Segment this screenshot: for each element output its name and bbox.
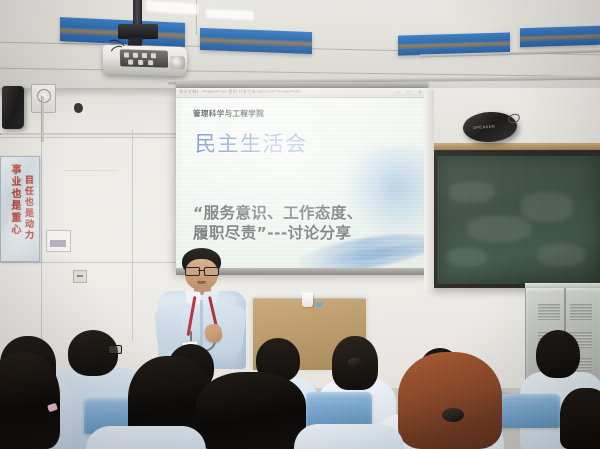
glasses-icon	[108, 345, 122, 354]
slide-canvas: 管理科学与工程学院 民主生活会 “服务意识、工作态度、 履职尽责”---讨论分享	[181, 98, 423, 268]
slide-header-text: 管理科学与工程学院	[193, 108, 264, 119]
list-item	[86, 426, 206, 449]
list-item	[536, 330, 580, 378]
list-item	[0, 352, 60, 449]
list-item	[196, 372, 306, 449]
window-controls[interactable]: — □ ✕	[395, 90, 425, 96]
slide-title-text: 民主生活会	[195, 128, 308, 158]
projection-screen: 演示文稿1 - PowerPoint 视图 开发工具 Microsoft Pow…	[176, 88, 428, 271]
wall-panel-line	[41, 130, 42, 340]
poster-glare	[1, 157, 39, 261]
wall-panel-line	[63, 170, 118, 171]
slide-subtitle: “服务意识、工作态度、 履职尽责”---讨论分享	[193, 204, 423, 244]
chair-back	[500, 394, 560, 428]
wall-conduit	[0, 133, 177, 135]
clock-icon	[37, 89, 51, 103]
classroom-photo: 事业也是重心 目任也是动力 演示文稿1 - PowerPoint 视图 开发工具…	[0, 0, 600, 449]
wall-conduit	[41, 96, 44, 142]
wall-panel-line	[0, 137, 176, 138]
powerpoint-titlebar: 演示文稿1 - PowerPoint 视图 开发工具 Microsoft Pow…	[176, 88, 428, 98]
calligraphy-poster: 事业也是重心 目任也是动力	[0, 156, 40, 262]
board-side-wall	[424, 90, 434, 290]
paper-cup	[302, 293, 313, 307]
hair-tie	[348, 358, 361, 366]
hair-tie	[442, 408, 464, 422]
wall-notice-card	[46, 230, 71, 252]
powerpoint-title-text: 演示文稿1 - PowerPoint 视图 开发工具 Microsoft Pow…	[179, 89, 301, 95]
wall-hole	[74, 103, 83, 113]
wall-speaker-icon	[2, 86, 24, 129]
speaker-label: SPEAKER	[473, 124, 496, 130]
list-item	[398, 352, 502, 449]
ceiling-ac-strip	[200, 28, 312, 54]
glasses-icon	[185, 267, 218, 274]
list-item	[560, 388, 600, 449]
small-blue-object	[316, 302, 323, 307]
list-item	[294, 424, 404, 449]
presenter-left-sleeve	[154, 307, 184, 351]
slide-subtitle-line-1: “服务意识、工作态度、	[193, 204, 423, 224]
projector-mount-pole	[133, 0, 142, 26]
ceiling-ac-strip	[520, 26, 600, 48]
blackboard	[437, 156, 600, 284]
chair-back	[306, 392, 372, 426]
power-socket	[73, 270, 87, 283]
slide-subtitle-line-2: 履职尽责”---讨论分享	[193, 224, 423, 244]
projector-lens	[170, 56, 185, 70]
wall-panel-line	[132, 130, 133, 340]
